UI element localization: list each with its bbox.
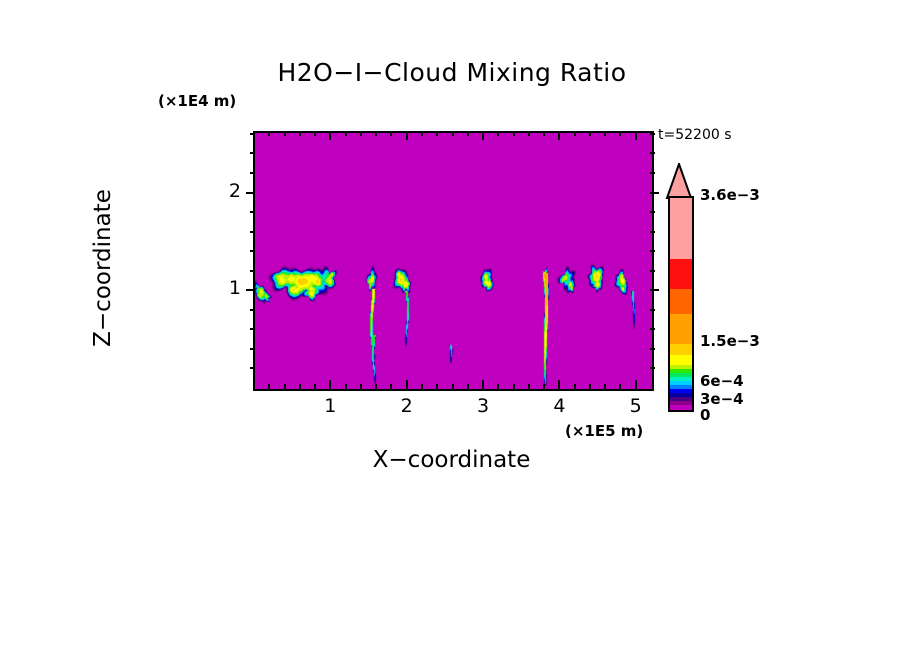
y-tick-major-right xyxy=(650,192,659,194)
page-title: H2O−I−Cloud Mixing Ratio xyxy=(0,58,904,87)
x-tick-minor-top xyxy=(299,131,301,136)
figure-canvas: H2O−I−Cloud Mixing Ratio (×1E4 m) (×1E5 … xyxy=(0,0,904,654)
y-tick-label: 1 xyxy=(201,277,241,299)
x-tick-minor-top xyxy=(528,131,530,136)
x-tick-major xyxy=(406,380,408,389)
colorbar-band xyxy=(670,344,692,355)
x-tick-minor xyxy=(314,384,316,389)
y-tick-minor-right xyxy=(650,328,655,330)
y-tick-minor-right xyxy=(650,348,655,350)
x-axis-unit-label: (×1E5 m) xyxy=(565,422,643,440)
x-tick-minor xyxy=(604,384,606,389)
x-tick-label: 3 xyxy=(463,395,503,417)
x-tick-minor-top xyxy=(390,131,392,136)
colorbar-band xyxy=(670,198,692,259)
x-tick-major-top xyxy=(558,131,560,140)
y-tick-minor xyxy=(250,211,255,213)
y-tick-major-right xyxy=(650,289,659,291)
y-tick-major xyxy=(246,192,255,194)
y-tick-minor xyxy=(250,250,255,252)
contour-field xyxy=(255,133,652,389)
y-tick-minor-right xyxy=(650,172,655,174)
colorbar-band xyxy=(670,289,692,314)
x-tick-minor-top xyxy=(345,131,347,136)
x-tick-minor xyxy=(360,384,362,389)
x-tick-minor xyxy=(284,384,286,389)
colorbar-band xyxy=(670,259,692,289)
x-tick-minor-top xyxy=(375,131,377,136)
colorbar-band xyxy=(670,355,692,365)
y-tick-minor xyxy=(250,152,255,154)
y-tick-minor xyxy=(250,367,255,369)
x-tick-minor-top xyxy=(589,131,591,136)
y-tick-minor-right xyxy=(650,152,655,154)
y-tick-minor xyxy=(250,133,255,135)
y-tick-minor xyxy=(250,348,255,350)
colorbar-band xyxy=(670,405,692,410)
colorbar-label-zero: 0 xyxy=(700,408,710,423)
x-tick-label: 4 xyxy=(539,395,579,417)
x-tick-major-top xyxy=(329,131,331,140)
x-tick-minor-top xyxy=(497,131,499,136)
x-tick-label: 5 xyxy=(616,395,656,417)
y-tick-label: 2 xyxy=(201,180,241,202)
x-tick-minor xyxy=(345,384,347,389)
y-tick-minor-right xyxy=(650,367,655,369)
x-tick-minor xyxy=(543,384,545,389)
x-tick-minor xyxy=(375,384,377,389)
colorbar-bands xyxy=(668,196,694,412)
y-tick-minor-right xyxy=(650,231,655,233)
x-tick-major-top xyxy=(482,131,484,140)
x-tick-minor-top xyxy=(619,131,621,136)
y-tick-minor-right xyxy=(650,133,655,135)
x-tick-label: 1 xyxy=(310,395,350,417)
x-tick-minor xyxy=(528,384,530,389)
x-tick-minor xyxy=(513,384,515,389)
x-tick-minor xyxy=(574,384,576,389)
x-tick-minor xyxy=(421,384,423,389)
x-tick-minor xyxy=(467,384,469,389)
x-tick-minor-top xyxy=(284,131,286,136)
x-tick-minor-top xyxy=(421,131,423,136)
x-tick-minor-top xyxy=(268,131,270,136)
colorbar-label-mid: 1.5e−3 xyxy=(700,334,760,349)
x-tick-minor xyxy=(497,384,499,389)
x-tick-major xyxy=(635,380,637,389)
colorbar-band xyxy=(670,314,692,344)
contour-plot-area xyxy=(253,131,654,391)
x-tick-minor-top xyxy=(543,131,545,136)
y-tick-minor xyxy=(250,231,255,233)
y-tick-minor-right xyxy=(650,250,655,252)
y-tick-minor-right xyxy=(650,211,655,213)
x-tick-minor-top xyxy=(467,131,469,136)
x-tick-minor xyxy=(619,384,621,389)
x-tick-minor xyxy=(452,384,454,389)
x-tick-minor-top xyxy=(604,131,606,136)
y-tick-minor xyxy=(250,270,255,272)
x-tick-minor-top xyxy=(513,131,515,136)
y-tick-minor-right xyxy=(650,270,655,272)
y-tick-minor xyxy=(250,309,255,311)
x-tick-major xyxy=(558,380,560,389)
y-tick-minor-right xyxy=(650,309,655,311)
time-annotation: t=52200 s xyxy=(658,127,732,143)
y-axis-unit-label: (×1E4 m) xyxy=(158,92,236,110)
y-axis-title: Z−coordinate xyxy=(90,118,116,418)
x-tick-minor xyxy=(299,384,301,389)
x-tick-major xyxy=(482,380,484,389)
x-tick-major xyxy=(329,380,331,389)
x-tick-minor-top xyxy=(360,131,362,136)
x-tick-minor xyxy=(589,384,591,389)
x-tick-minor xyxy=(390,384,392,389)
y-tick-minor xyxy=(250,328,255,330)
x-axis-title: X−coordinate xyxy=(253,447,650,473)
x-tick-label: 2 xyxy=(387,395,427,417)
colorbar-extend-arrow-icon xyxy=(664,163,694,199)
x-tick-minor xyxy=(436,384,438,389)
x-tick-minor-top xyxy=(436,131,438,136)
x-tick-minor-top xyxy=(574,131,576,136)
y-tick-minor xyxy=(250,172,255,174)
x-tick-major-top xyxy=(635,131,637,140)
x-tick-major-top xyxy=(406,131,408,140)
colorbar-label-3e4: 3e−4 xyxy=(700,392,744,407)
x-tick-minor-top xyxy=(314,131,316,136)
x-tick-minor xyxy=(268,384,270,389)
x-tick-minor-top xyxy=(452,131,454,136)
colorbar-label-6e4: 6e−4 xyxy=(700,374,744,389)
colorbar-label-max: 3.6e−3 xyxy=(700,188,760,203)
y-tick-major xyxy=(246,289,255,291)
